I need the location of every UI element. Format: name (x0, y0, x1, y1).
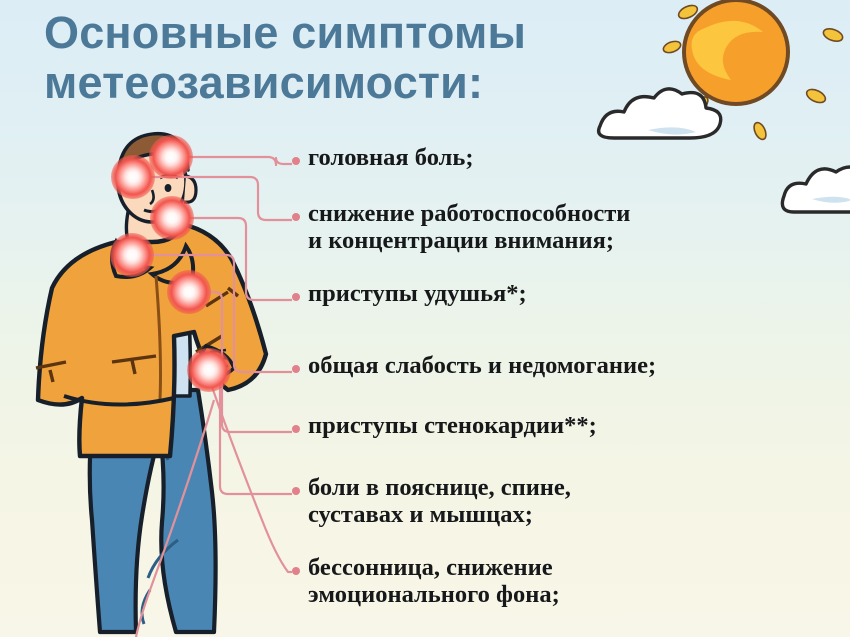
symptom-item-back-pain: боли в пояснице, спине, суставах и мышца… (308, 474, 571, 529)
infographic-poster: Основные симптомы метеозависимости: (0, 0, 850, 637)
symptom-item-headache: головная боль; (308, 144, 474, 171)
cloud-right (782, 167, 850, 212)
sun-icon (684, 0, 788, 104)
bullet-dot-back-pain (292, 487, 300, 495)
symptom-item-performance: снижение работоспособности и концентраци… (308, 200, 630, 255)
bullet-dot-weakness (292, 365, 300, 373)
symptom-item-insomnia: бессонница, снижение эмоционального фона… (308, 554, 560, 609)
pain-marker-chest (167, 270, 211, 314)
bullet-dot-suffocation (292, 293, 300, 301)
bullet-dot-headache (292, 157, 300, 165)
pain-marker-throat (150, 196, 194, 240)
pain-marker-abdomen (187, 348, 231, 392)
bullet-dot-angina (292, 425, 300, 433)
symptom-item-weakness: общая слабость и недомогание; (308, 352, 656, 379)
pain-marker-temple (111, 155, 155, 199)
bullet-dot-performance (292, 213, 300, 221)
sun-rays-icon (662, 3, 844, 141)
symptom-item-suffocation: приступы удушья*; (308, 280, 527, 307)
symptom-item-angina: приступы стенокардии**; (308, 412, 597, 439)
pain-marker-head-top (149, 135, 193, 179)
bullet-dot-insomnia (292, 567, 300, 575)
pain-marker-shoulder (110, 233, 154, 277)
page-title: Основные симптомы метеозависимости: (44, 8, 644, 109)
